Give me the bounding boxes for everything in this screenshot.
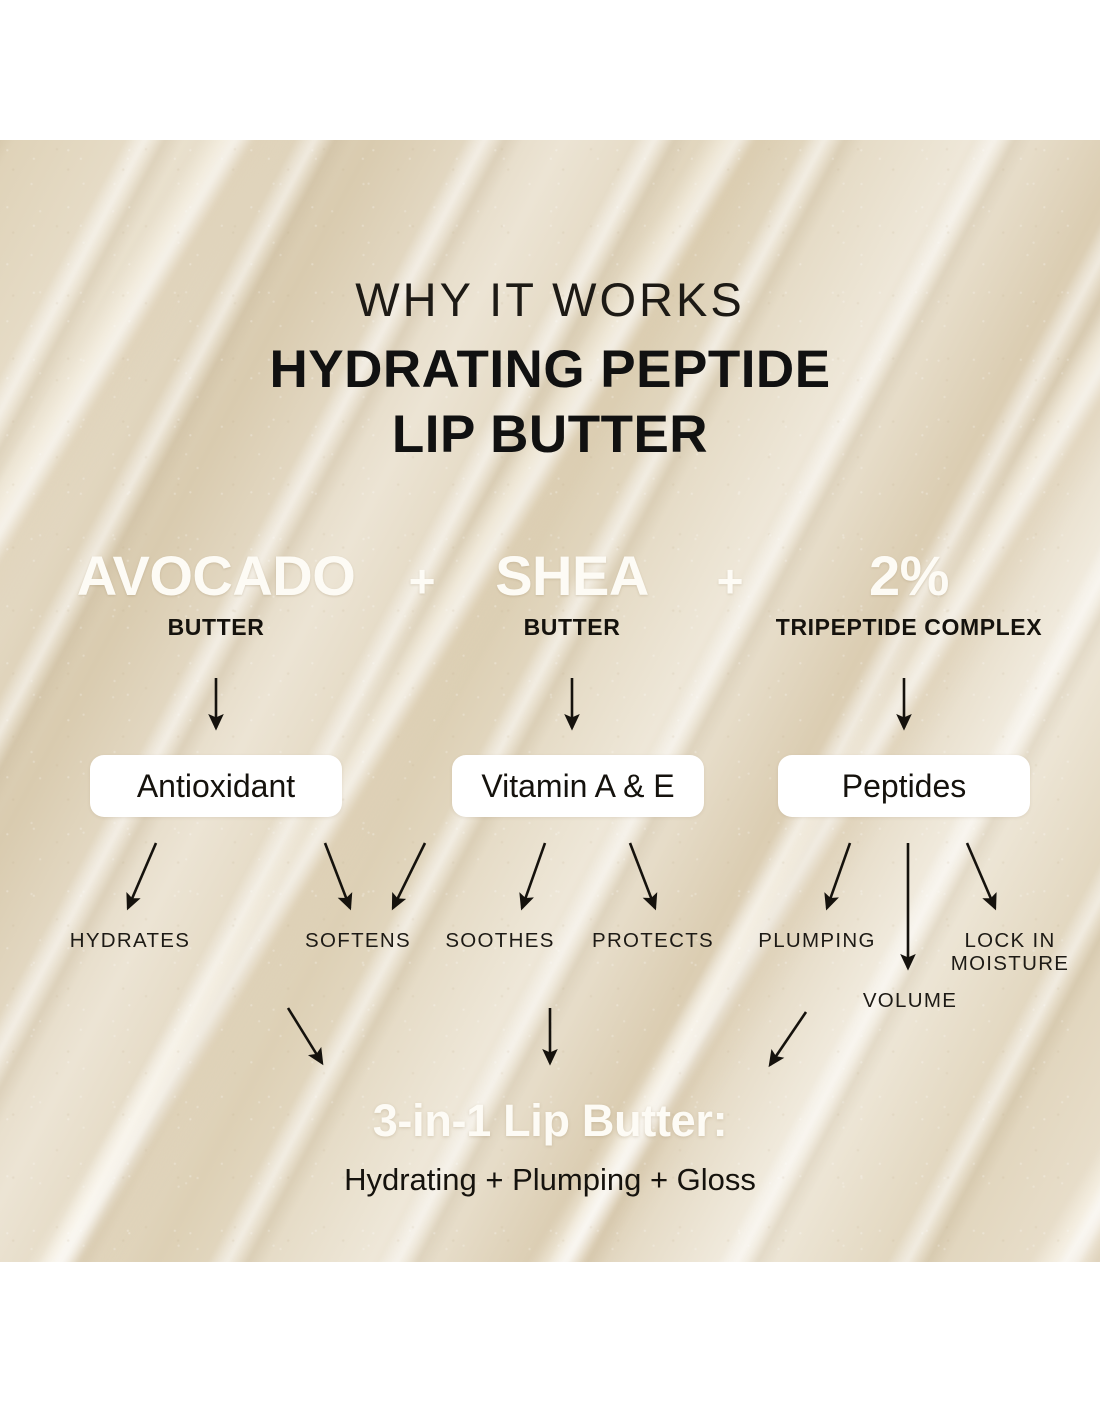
arrow-vitamin-to-softens — [393, 843, 425, 908]
result-subtitle: Hydrating + Plumping + Gloss — [0, 1162, 1100, 1198]
arrow-right-to-result — [770, 1012, 806, 1065]
arrow-layer — [0, 0, 1100, 1422]
ingredient-shea-name: SHEA — [452, 548, 692, 604]
ingredient-tripeptide: 2% TRIPEPTIDE COMPLEX — [760, 548, 1058, 639]
benefit-hydrates: HYDRATES — [40, 930, 220, 953]
page-title-line-2: LIP BUTTER — [0, 404, 1100, 465]
arrow-antioxidant-to-hydrates — [128, 843, 156, 908]
arrow-antioxidant-to-softens — [325, 843, 350, 908]
active-pill-vitamin: Vitamin A & E — [452, 755, 704, 817]
infographic-page: WHY IT WORKS HYDRATING PEPTIDE LIP BUTTE… — [0, 0, 1100, 1422]
benefit-protects: PROTECTS — [558, 930, 748, 953]
active-pill-antioxidant: Antioxidant — [90, 755, 342, 817]
arrow-vitamin-to-protects — [630, 843, 655, 908]
benefit-lock-in-moisture: LOCK IN MOISTURE — [930, 930, 1090, 976]
ingredient-tripeptide-sub: TRIPEPTIDE COMPLEX — [760, 616, 1058, 639]
arrow-vitamin-to-soothes — [522, 843, 545, 908]
benefit-plumping: PLUMPING — [722, 930, 912, 953]
result-title: 3-in-1 Lip Butter: — [0, 1095, 1100, 1147]
arrow-peptides-to-plumping — [827, 843, 850, 908]
eyebrow-heading: WHY IT WORKS — [0, 272, 1100, 327]
active-pill-peptides-label: Peptides — [842, 768, 967, 805]
ingredient-avocado: AVOCADO BUTTER — [42, 548, 390, 639]
active-pill-vitamin-label: Vitamin A & E — [481, 768, 674, 805]
plus-icon-1: + — [392, 558, 452, 604]
arrow-left-to-result — [288, 1008, 322, 1063]
arrow-peptides-to-lock-in-moisture — [967, 843, 995, 908]
ingredient-avocado-name: AVOCADO — [42, 548, 390, 604]
active-pill-peptides: Peptides — [778, 755, 1030, 817]
plus-icon-2: + — [700, 558, 760, 604]
benefit-volume: VOLUME — [820, 990, 1000, 1013]
ingredient-tripeptide-name: 2% — [760, 548, 1058, 604]
active-pill-antioxidant-label: Antioxidant — [137, 768, 295, 805]
ingredient-shea: SHEA BUTTER — [452, 548, 692, 639]
ingredient-shea-sub: BUTTER — [452, 616, 692, 639]
ingredient-avocado-sub: BUTTER — [42, 616, 390, 639]
page-title-line-1: HYDRATING PEPTIDE — [0, 339, 1100, 400]
